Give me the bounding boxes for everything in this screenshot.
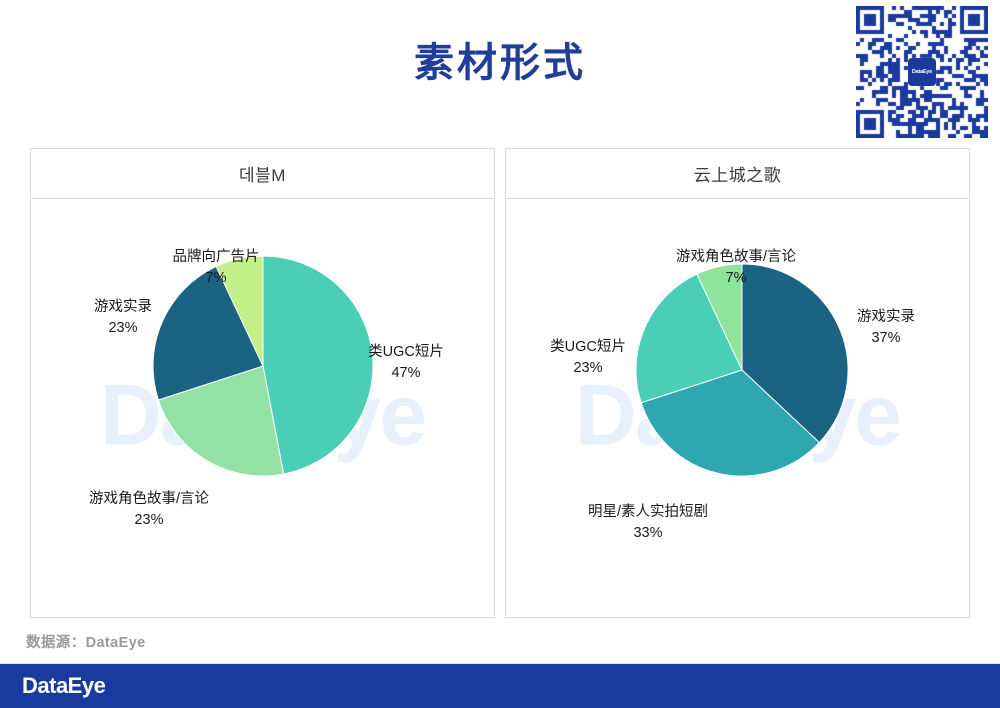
label-right-0-pct: 7%	[636, 268, 836, 289]
footer-logo: DataEye	[22, 673, 105, 699]
card-left-body: DataEye 品牌向广告片 7% 游戏实录 23% 类UGC短片 47%	[31, 199, 494, 617]
label-right-2-pct: 37%	[826, 328, 946, 349]
slide-root: 素材形式 DataEye 데블M DataEye 品牌向广告片 7% 游戏实录	[0, 0, 1000, 708]
pie-chart-right: 游戏角色故事/言论 7% 类UGC短片 23% 游戏实录 37% 明星/素人实拍…	[506, 199, 969, 617]
pie-right-svg	[636, 264, 848, 476]
data-source-label: 数据源：DataEye	[26, 631, 146, 652]
label-right-3-pct: 33%	[538, 523, 758, 544]
pie-left-svg	[153, 256, 373, 476]
card-left: 데블M DataEye 品牌向广告片 7% 游戏实录 23% 类UGC短片	[30, 148, 495, 618]
card-left-title: 데블M	[31, 149, 494, 199]
footer-bar: DataEye	[0, 664, 1000, 708]
label-left-3-pct: 23%	[49, 510, 249, 531]
label-right-2: 游戏实录 37%	[826, 307, 946, 349]
label-right-0: 游戏角色故事/言论 7%	[636, 247, 836, 289]
label-right-3: 明星/素人实拍短剧 33%	[538, 502, 758, 544]
label-left-1-pct: 23%	[63, 318, 183, 339]
label-left-2-pct: 47%	[346, 363, 466, 384]
label-right-2-name: 游戏实录	[857, 309, 915, 325]
chart-cards-container: 데블M DataEye 品牌向广告片 7% 游戏实录 23% 类UGC短片	[30, 148, 970, 618]
card-right-title: 云上城之歌	[506, 149, 969, 199]
label-right-1: 类UGC短片 23%	[528, 337, 648, 379]
qr-code[interactable]: DataEye	[856, 6, 988, 138]
qr-center-logo: DataEye	[908, 58, 936, 86]
label-left-0: 品牌向广告片 7%	[141, 247, 291, 289]
label-right-1-pct: 23%	[528, 358, 648, 379]
label-right-1-name: 类UGC短片	[550, 339, 626, 355]
label-left-1-name: 游戏实录	[94, 299, 152, 315]
label-right-0-name: 游戏角色故事/言论	[676, 249, 796, 265]
pie-chart-left: 品牌向广告片 7% 游戏实录 23% 类UGC短片 47% 游戏角色故事/言论 …	[31, 199, 494, 617]
card-right-body: DataEye 游戏角色故事/言论 7% 类UGC短片 23% 游戏实录 37%	[506, 199, 969, 617]
label-left-0-pct: 7%	[141, 268, 291, 289]
label-left-2: 类UGC短片 47%	[346, 342, 466, 384]
label-left-1: 游戏实录 23%	[63, 297, 183, 339]
page-title: 素材形式	[0, 36, 1000, 90]
label-left-2-name: 类UGC短片	[368, 344, 444, 360]
label-right-3-name: 明星/素人实拍短剧	[588, 504, 708, 520]
label-left-3: 游戏角色故事/言论 23%	[49, 489, 249, 531]
label-left-0-name: 品牌向广告片	[173, 249, 260, 265]
card-right: 云上城之歌 DataEye 游戏角色故事/言论 7% 类UGC短片 23% 游戏…	[505, 148, 970, 618]
label-left-3-name: 游戏角色故事/言论	[89, 491, 209, 507]
